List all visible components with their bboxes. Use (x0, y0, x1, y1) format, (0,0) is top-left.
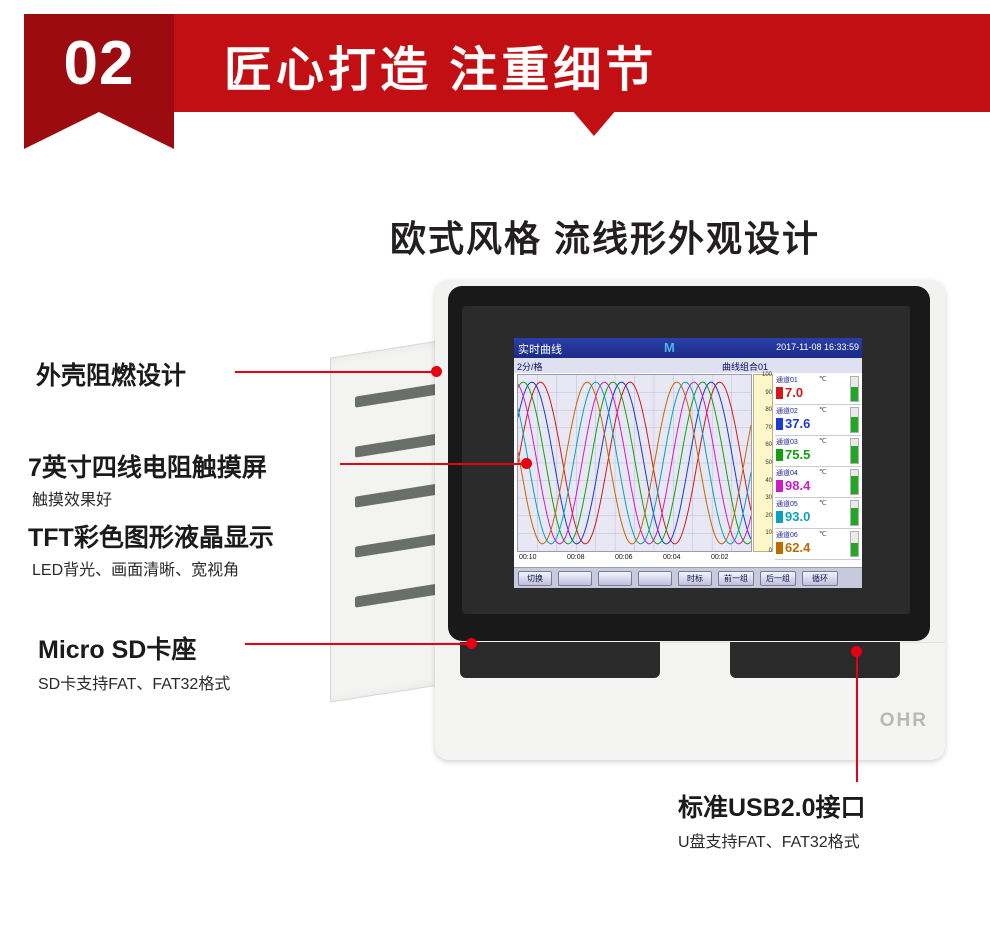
channel-name: 通道03 (776, 437, 798, 447)
callout-5-leader-line (856, 652, 858, 782)
channel-name: 通道02 (776, 406, 798, 416)
y-axis-tick: 50 (755, 460, 772, 466)
callout-usb-title: 标准USB2.0接口 (678, 788, 866, 824)
x-axis-tick: 00:02 (711, 554, 729, 561)
y-axis-tick: 80 (755, 407, 772, 413)
x-axis-tick: 00:10 (519, 554, 537, 561)
y-axis-tick: 90 (755, 390, 772, 396)
channel-bargraph (850, 407, 859, 433)
callout-tft-title: TFT彩色图形液晶显示 (28, 518, 274, 554)
channel-unit: ℃ (819, 375, 827, 383)
channel-color-swatch (776, 480, 783, 492)
channel-bargraph-fill (851, 543, 858, 556)
callout-tft-sub: LED背光、画面清晰、宽视角 (32, 556, 239, 580)
screen-soft-button[interactable]: 切换 (518, 571, 552, 586)
trend-plot-svg (518, 375, 751, 551)
screen-soft-button[interactable] (598, 571, 632, 586)
channel-bargraph (850, 469, 859, 495)
channel-readout-panel: 通道01℃7.0通道02℃37.6通道03℃75.5通道04℃98.4通道05℃… (775, 374, 861, 566)
channel-value: 62.4 (785, 540, 810, 555)
channel-header: 通道04℃ (775, 467, 861, 478)
screen-button-bar[interactable]: 切换时标前一组后一组循环 (514, 567, 862, 588)
channel-unit: ℃ (819, 468, 827, 476)
callout-1-leader-line (235, 371, 440, 373)
screen-titlebar: 实时曲线 M 2017-11-08 16:33:59 (514, 338, 862, 358)
trend-plot[interactable] (517, 374, 752, 552)
callout-5-leader-dot (851, 646, 862, 657)
y-axis-tick: 20 (755, 513, 772, 519)
x-axis-tick: 00:04 (663, 554, 681, 561)
channel-color-swatch (776, 511, 783, 523)
callout-sdcard-sub: SD卡支持FAT、FAT32格式 (38, 670, 230, 694)
callout-2-leader-dot (521, 458, 532, 469)
callout-sdcard-title: Micro SD卡座 (38, 630, 196, 666)
header-banner: 02 匠心打造 注重细节 (24, 14, 990, 112)
screen-soft-button[interactable] (638, 571, 672, 586)
channel-row[interactable]: 通道05℃93.0 (775, 498, 861, 529)
callout-usb-sub: U盘支持FAT、FAT32格式 (678, 828, 860, 852)
channel-header: 通道03℃ (775, 436, 861, 447)
channel-unit: ℃ (819, 406, 827, 414)
x-axis-tick: 00:08 (567, 554, 585, 561)
channel-bargraph (850, 500, 859, 526)
channel-row[interactable]: 通道06℃62.4 (775, 529, 861, 560)
callout-flame-retardant-title: 外壳阻燃设计 (36, 356, 186, 392)
channel-value: 37.6 (785, 416, 810, 431)
screen-datetime: 2017-11-08 16:33:59 (776, 342, 859, 352)
screen-title: 实时曲线 (518, 341, 562, 357)
sd-card-slot[interactable] (460, 642, 660, 678)
channel-row[interactable]: 通道04℃98.4 (775, 467, 861, 498)
screen-soft-button[interactable]: 前一组 (718, 571, 754, 586)
channel-bargraph-fill (851, 508, 858, 525)
y-axis-tick: 30 (755, 495, 772, 501)
y-axis-tick: 60 (755, 442, 772, 448)
channel-header: 通道01℃ (775, 374, 861, 385)
channel-bargraph (850, 376, 859, 402)
channel-color-swatch (776, 542, 783, 554)
x-axis-tick: 00:06 (615, 554, 633, 561)
screen-subbar: 2分/格 曲线组合01 (514, 358, 862, 373)
channel-bargraph-fill (851, 476, 858, 494)
channel-row[interactable]: 通道02℃37.6 (775, 405, 861, 436)
screen-soft-button[interactable]: 时标 (678, 571, 712, 586)
screen-soft-button[interactable]: 后一组 (760, 571, 796, 586)
callout-4-leader-dot (466, 638, 477, 649)
y-axis-tick: 100 (755, 372, 772, 378)
y-axis-tick: 70 (755, 425, 772, 431)
y-axis-tick: 10 (755, 530, 772, 536)
channel-value: 93.0 (785, 509, 810, 524)
header-arrow (560, 96, 628, 136)
channel-bargraph (850, 531, 859, 557)
y-axis-strip: 1009080706050403020100 (753, 374, 773, 552)
channel-name: 通道05 (776, 499, 798, 509)
channel-row[interactable]: 通道03℃75.5 (775, 436, 861, 467)
screen-soft-button[interactable] (558, 571, 592, 586)
header-title: 匠心打造 注重细节 (224, 30, 657, 100)
channel-value: 98.4 (785, 478, 810, 493)
channel-unit: ℃ (819, 530, 827, 538)
brand-logo-icon: M (664, 340, 675, 355)
callout-touchscreen-title: 7英寸四线电阻触摸屏 (28, 448, 267, 484)
channel-header: 通道06℃ (775, 529, 861, 540)
header-number: 02 (24, 28, 174, 99)
callout-2-leader-line (340, 463, 530, 465)
callout-4-leader-line (245, 643, 475, 645)
channel-header: 通道02℃ (775, 405, 861, 416)
usb-port-slot[interactable] (730, 642, 900, 678)
device-screen[interactable]: 实时曲线 M 2017-11-08 16:33:59 2分/格 曲线组合01 1… (514, 338, 862, 588)
section-heading: 欧式风格 流线形外观设计 (390, 210, 820, 262)
channel-color-swatch (776, 449, 783, 461)
callout-1-leader-dot (431, 366, 442, 377)
channel-value: 75.5 (785, 447, 810, 462)
screen-soft-button[interactable]: 循环 (802, 571, 838, 586)
screen-scale-label: 2分/格 (517, 360, 543, 373)
channel-unit: ℃ (819, 437, 827, 445)
channel-bargraph (850, 438, 859, 464)
callout-touchscreen-sub: 触摸效果好 (32, 486, 112, 510)
channel-unit: ℃ (819, 499, 827, 507)
channel-value: 7.0 (785, 385, 803, 400)
y-axis-tick: 40 (755, 478, 772, 484)
channel-bargraph-fill (851, 446, 858, 463)
channel-name: 通道04 (776, 468, 798, 478)
x-axis-labels: 00:1000:0800:0600:0400:02 (517, 554, 773, 566)
channel-name: 通道06 (776, 530, 798, 540)
channel-color-swatch (776, 418, 783, 430)
channel-name: 通道01 (776, 375, 798, 385)
channel-header: 通道05℃ (775, 498, 861, 509)
channel-row[interactable]: 通道01℃7.0 (775, 374, 861, 405)
channel-color-swatch (776, 387, 783, 399)
channel-bargraph-fill (851, 387, 858, 401)
channel-bargraph-fill (851, 417, 858, 432)
device-brand: OHR (880, 710, 928, 732)
